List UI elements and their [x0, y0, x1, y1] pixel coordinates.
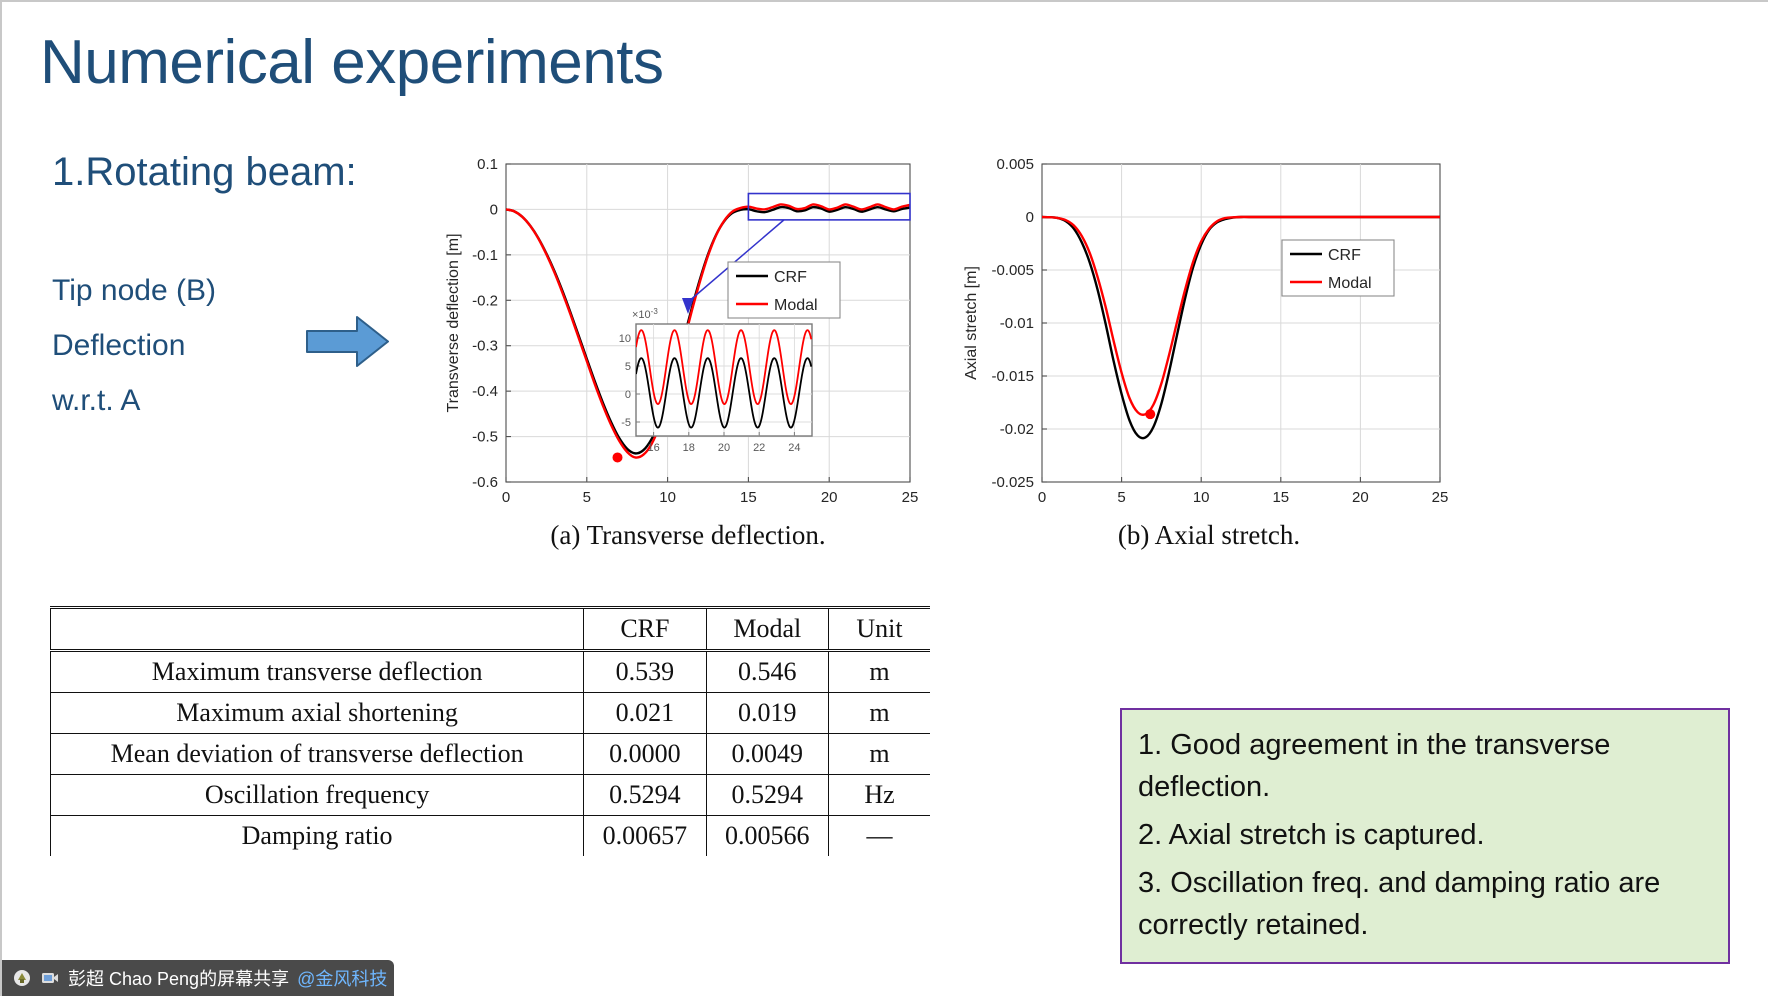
svg-text:24: 24 [788, 442, 800, 454]
left-text-line-1: Tip node (B) [52, 274, 216, 308]
table-cell-modal: 0.019 [706, 693, 828, 734]
screen-share-icon [12, 968, 32, 988]
left-text-line-2: Deflection [52, 329, 185, 363]
svg-text:Axial stretch [m]: Axial stretch [m] [963, 266, 980, 380]
table-row: Oscillation frequency0.52940.5294Hz [51, 775, 931, 816]
svg-text:0: 0 [502, 489, 510, 506]
svg-text:10: 10 [619, 333, 631, 345]
svg-text:5: 5 [625, 361, 631, 373]
svg-text:Modal: Modal [774, 297, 818, 314]
svg-text:-0.025: -0.025 [991, 474, 1034, 491]
share-banner-text: 彭超 Chao Peng的屏幕共享 [68, 965, 289, 991]
table-cell-modal: 0.00566 [706, 816, 828, 857]
table-header-modal: Modal [706, 608, 828, 651]
svg-text:10: 10 [1193, 489, 1210, 506]
table-header-crf: CRF [584, 608, 706, 651]
chart-transverse-deflection: 05101520250.10-0.1-0.2-0.3-0.4-0.5-0.6Ti… [438, 152, 938, 512]
table-cell-unit: — [829, 816, 931, 857]
table-row: Maximum axial shortening0.0210.019m [51, 693, 931, 734]
chart-axial-stretch: 05101520250.0050-0.005-0.01-0.015-0.02-0… [954, 152, 1464, 512]
conclusions-callout: 1. Good agreement in the transverse defl… [1120, 708, 1730, 964]
figure-axial-stretch: 05101520250.0050-0.005-0.01-0.015-0.02-0… [954, 152, 1464, 572]
conclusion-line-3: 3. Oscillation freq. and damping ratio a… [1138, 862, 1712, 946]
svg-text:-0.4: -0.4 [472, 383, 498, 400]
svg-text:0: 0 [625, 389, 631, 401]
table-header-unit: Unit [829, 608, 931, 651]
table-cell-modal: 0.5294 [706, 775, 828, 816]
table-cell-label: Damping ratio [51, 816, 584, 857]
svg-text:-0.5: -0.5 [472, 429, 498, 446]
table-cell-crf: 0.5294 [584, 775, 706, 816]
svg-text:25: 25 [1432, 489, 1449, 506]
table-cell-label: Oscillation frequency [51, 775, 584, 816]
svg-text:5: 5 [583, 489, 591, 506]
table-cell-unit: m [829, 693, 931, 734]
svg-text:0: 0 [1026, 209, 1034, 226]
svg-text:-5: -5 [621, 417, 631, 429]
table-row: Mean deviation of transverse deflection0… [51, 734, 931, 775]
table-cell-label: Mean deviation of transverse deflection [51, 734, 584, 775]
svg-text:20: 20 [821, 489, 838, 506]
table-row: Damping ratio0.006570.00566— [51, 816, 931, 857]
results-table: CRFModalUnitMaximum transverse deflectio… [50, 606, 930, 856]
svg-text:15: 15 [740, 489, 757, 506]
svg-text:CRF: CRF [1328, 247, 1361, 264]
table-cell-label: Maximum axial shortening [51, 693, 584, 734]
svg-text:22: 22 [753, 442, 765, 454]
svg-text:0.005: 0.005 [996, 156, 1034, 173]
svg-text:Transverse deflection [m]: Transverse deflection [m] [445, 233, 462, 412]
page-title: Numerical experiments [40, 30, 664, 95]
svg-text:20: 20 [718, 442, 730, 454]
table-cell-crf: 0.539 [584, 651, 706, 693]
svg-text:-0.005: -0.005 [991, 262, 1034, 279]
conclusion-line-1: 1. Good agreement in the transverse defl… [1138, 724, 1712, 808]
svg-text:-0.02: -0.02 [1000, 421, 1034, 438]
svg-text:20: 20 [1352, 489, 1369, 506]
svg-text:0: 0 [1038, 489, 1046, 506]
svg-text:-0.015: -0.015 [991, 368, 1034, 385]
svg-text:15: 15 [1272, 489, 1289, 506]
conclusion-line-2: 2. Axial stretch is captured. [1138, 814, 1712, 856]
table-cell-unit: m [829, 734, 931, 775]
figure-a-caption: (a) Transverse deflection. [438, 520, 938, 551]
svg-text:CRF: CRF [774, 269, 807, 286]
right-arrow-icon [305, 314, 390, 369]
slide-canvas: Numerical experiments 1.Rotating beam: T… [0, 0, 1768, 996]
figure-transverse-deflection: 05101520250.10-0.1-0.2-0.3-0.4-0.5-0.6Ti… [438, 152, 938, 572]
table-row: Maximum transverse deflection0.5390.546m [51, 651, 931, 693]
svg-text:-0.3: -0.3 [472, 338, 498, 355]
svg-text:25: 25 [902, 489, 919, 506]
svg-text:16: 16 [647, 442, 659, 454]
svg-text:Modal: Modal [1328, 275, 1372, 292]
table-header-row: CRFModalUnit [51, 608, 931, 651]
screen-share-banner[interactable]: 彭超 Chao Peng的屏幕共享 @金风科技 [2, 960, 394, 996]
table-cell-modal: 0.546 [706, 651, 828, 693]
left-text-line-3: w.r.t. A [52, 384, 140, 418]
svg-text:-0.01: -0.01 [1000, 315, 1034, 332]
table-cell-label: Maximum transverse deflection [51, 651, 584, 693]
svg-text:-0.6: -0.6 [472, 474, 498, 491]
figure-b-caption: (b) Axial stretch. [954, 520, 1464, 551]
svg-text:-0.1: -0.1 [472, 247, 498, 264]
table-cell-crf: 0.00657 [584, 816, 706, 857]
camera-icon [40, 968, 60, 988]
table-cell-crf: 0.021 [584, 693, 706, 734]
svg-text:0.1: 0.1 [477, 156, 498, 173]
table-cell-unit: Hz [829, 775, 931, 816]
svg-text:10: 10 [659, 489, 676, 506]
table-cell-crf: 0.0000 [584, 734, 706, 775]
table-header-blank [51, 608, 584, 651]
svg-text:0: 0 [490, 201, 498, 218]
svg-text:-0.2: -0.2 [472, 292, 498, 309]
table-cell-unit: m [829, 651, 931, 693]
share-banner-tag: @金风科技 [297, 965, 387, 991]
svg-text:18: 18 [683, 442, 695, 454]
section-subtitle: 1.Rotating beam: [52, 150, 357, 195]
table-cell-modal: 0.0049 [706, 734, 828, 775]
svg-text:5: 5 [1117, 489, 1125, 506]
